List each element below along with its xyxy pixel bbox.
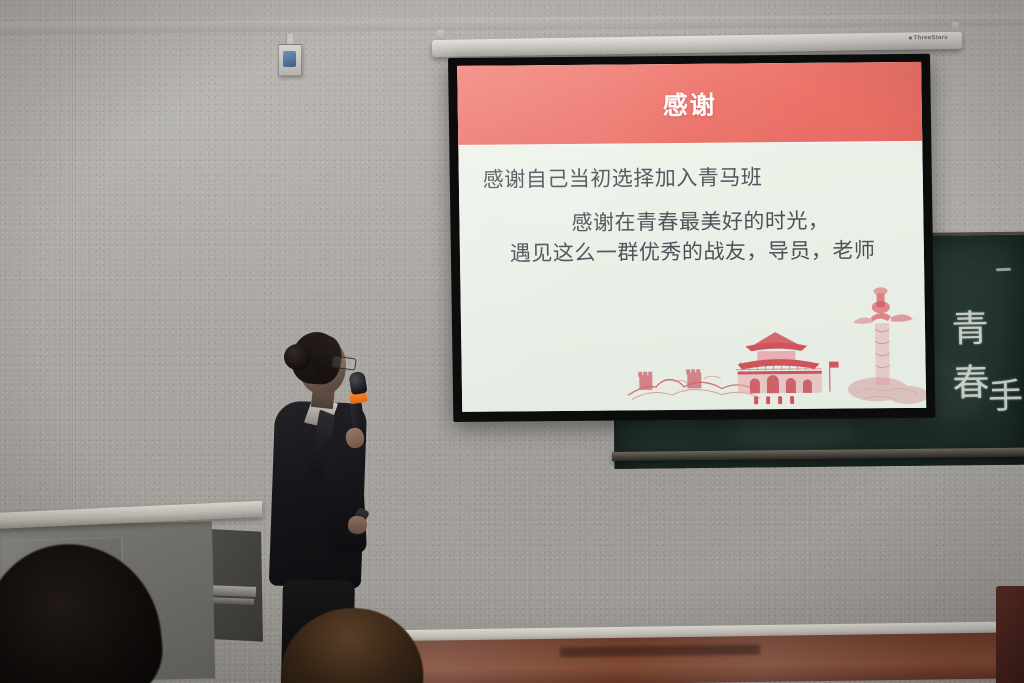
floor-reflection: [398, 632, 1024, 683]
chalk-mark: [996, 268, 1011, 272]
chair-back: [996, 586, 1024, 683]
floor: [398, 632, 1024, 683]
tiananmen-great-wall-huabiao-icon: [624, 273, 926, 411]
projection-screen: 感谢 感谢自己当初选择加入青马班 感谢在青春最美好的时光， 遇见这么一群优秀的战…: [448, 54, 935, 422]
slide-body: 感谢自己当初选择加入青马班 感谢在青春最美好的时光， 遇见这么一群优秀的战友，导…: [458, 141, 926, 412]
huabiao-column: [846, 287, 926, 405]
sensor-lens-icon: [283, 51, 296, 67]
microphone-head-icon: [348, 371, 367, 395]
slide-title: 感谢: [662, 85, 717, 121]
classroom-scene: 青春 手 ThreeStars 感谢 感谢自己当初选择加入青马班 感谢在青春最美…: [0, 0, 1024, 683]
presentation-slide: 感谢 感谢自己当初选择加入青马班 感谢在青春最美好的时光， 遇见这么一群优秀的战…: [457, 62, 926, 412]
presenter-arm: [321, 435, 367, 555]
presenter-hair-bun: [284, 344, 311, 370]
wall-seam-line: [72, 0, 75, 560]
wall-sensor-box[interactable]: [278, 44, 302, 76]
brand-bullet-icon: [909, 36, 912, 39]
brand-name: ThreeStars: [913, 35, 947, 42]
wall-seam-line-secondary: [60, 0, 63, 520]
slide-text-line-1: 感谢自己当初选择加入青马班: [483, 161, 907, 195]
projection-surface: 感谢 感谢自己当初选择加入青马班 感谢在青春最美好的时光， 遇见这么一群优秀的战…: [457, 62, 926, 412]
slide-text-line-2: 感谢在青春最美好的时光，: [571, 205, 907, 238]
blackboard-chalk-line-2: 手: [988, 368, 1024, 420]
tiananmen-gate: [735, 332, 839, 405]
slide-title-banner: 感谢: [457, 62, 922, 145]
slide-text-line-3: 遇见这么一群优秀的战友，导员，老师: [510, 235, 908, 268]
housing-brand-label: ThreeStars: [908, 35, 947, 42]
